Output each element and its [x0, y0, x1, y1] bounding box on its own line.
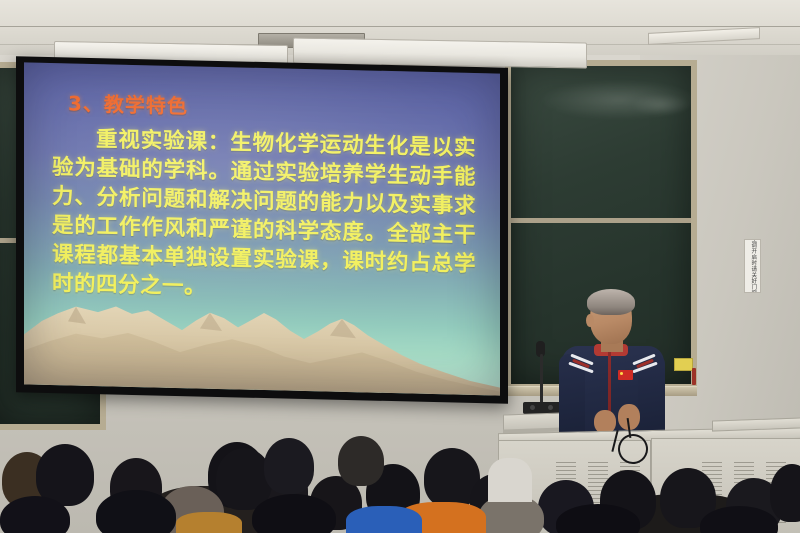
- slide-title: 3、教学特色: [68, 87, 478, 126]
- chalk-holder: [692, 368, 696, 385]
- wall-notice-sign: 空调开启时请关好门窗: [744, 239, 761, 293]
- flag-emblem-icon: [618, 370, 633, 380]
- audience-head-front: [96, 490, 176, 533]
- presenter-hair: [587, 289, 635, 315]
- ceiling-light-fixture: [648, 27, 760, 45]
- audience-head: [338, 436, 384, 486]
- yellow-notice-label: [674, 358, 693, 371]
- projected-slide: 3、教学特色 重视实验课：生物化学运动生化是以实验为基础的学科。通过实验培养学生…: [24, 62, 500, 395]
- audience-shirt-blue: [346, 506, 422, 533]
- projection-screen: 3、教学特色 重视实验课：生物化学运动生化是以实验为基础的学科。通过实验培养学生…: [16, 56, 508, 404]
- audience-shirt-white: [488, 458, 532, 502]
- slide-body-text: 重视实验课：生物化学运动生化是以实验为基础的学科。通过实验培养学生动手能力、分析…: [52, 124, 476, 308]
- wall-sign-text: 空调开启时请关好门窗: [750, 239, 756, 293]
- classroom-photo: 3、教学特色 重视实验课：生物化学运动生化是以实验为基础的学科。通过实验培养学生…: [0, 0, 800, 533]
- audience: [0, 428, 800, 533]
- microphone-stem: [540, 354, 543, 406]
- audience-head: [770, 464, 800, 522]
- audience-shirt-tan: [176, 512, 242, 533]
- microphone-knob-2: [548, 405, 553, 410]
- audience-head: [264, 438, 314, 494]
- microphone-knob: [530, 405, 535, 410]
